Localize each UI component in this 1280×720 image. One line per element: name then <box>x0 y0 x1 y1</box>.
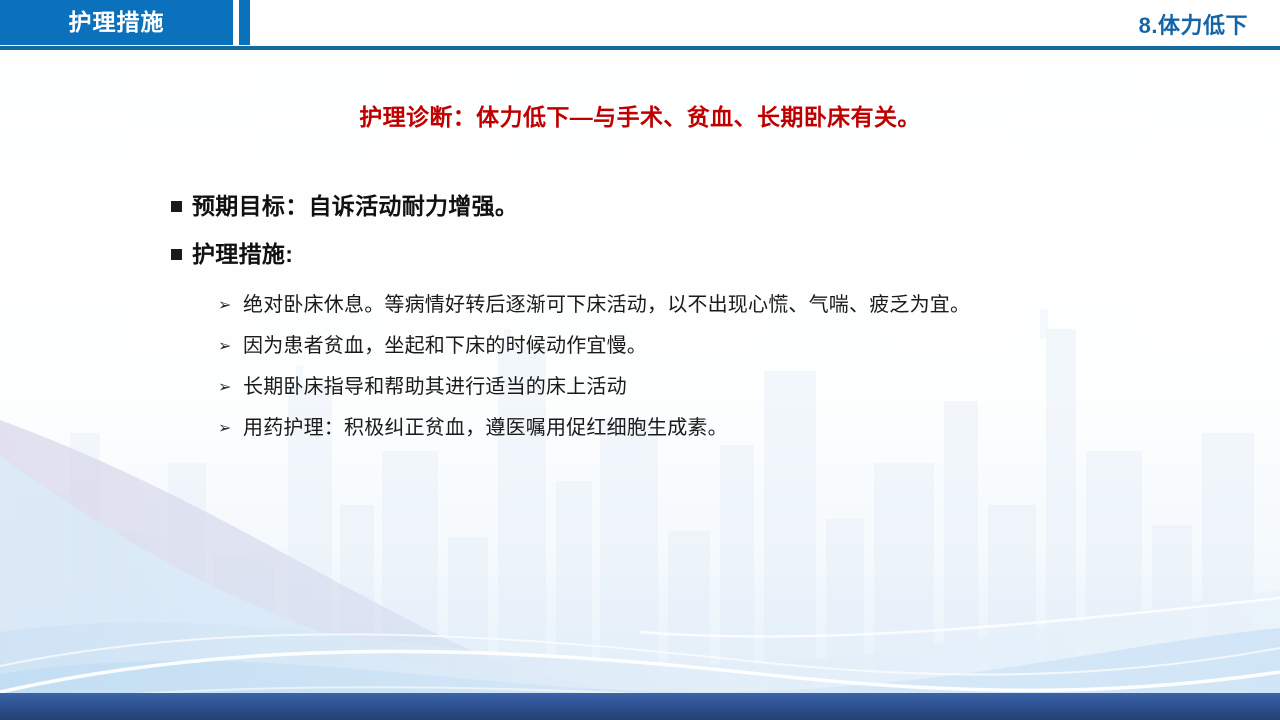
slide-footer-bar <box>0 693 1280 720</box>
slide-content: 护理诊断：体力低下—与手术、贫血、长期卧床有关。 预期目标：自诉活动耐力增强。 … <box>0 52 1280 720</box>
sub-bullet-list: ➢ 绝对卧床休息。等病情好转后逐渐可下床活动，以不出现心慌、气喘、疲乏为宜。 ➢… <box>0 285 1280 449</box>
sub-bullet-label: 用药护理：积极纠正贫血，遵医嘱用促红细胞生成素。 <box>243 417 728 439</box>
bullet-item-expected-goal: 预期目标：自诉活动耐力增强。 <box>0 182 1280 230</box>
sub-bullet-item: ➢ 因为患者贫血，坐起和下床的时候动作宜慢。 <box>0 326 1280 367</box>
arrow-bullet-icon: ➢ <box>218 408 236 449</box>
nursing-diagnosis-title: 护理诊断：体力低下—与手术、贫血、长期卧床有关。 <box>0 98 1280 132</box>
square-bullet-icon <box>171 201 182 212</box>
sub-bullet-label: 绝对卧床休息。等病情好转后逐渐可下床活动，以不出现心慌、气喘、疲乏为宜。 <box>243 294 970 316</box>
sub-bullet-label: 因为患者贫血，坐起和下床的时候动作宜慢。 <box>243 335 647 357</box>
sub-bullet-item: ➢ 用药护理：积极纠正贫血，遵医嘱用促红细胞生成素。 <box>0 408 1280 449</box>
bullet-list: 预期目标：自诉活动耐力增强。 护理措施: ➢ 绝对卧床休息。等病情好转后逐渐可下… <box>0 182 1280 449</box>
arrow-bullet-icon: ➢ <box>218 367 236 408</box>
bullet-item-nursing-measures: 护理措施: <box>0 230 1280 278</box>
header-section-label: 8.体力低下 <box>1139 8 1248 40</box>
header-tab-label: 护理措施 <box>0 0 233 45</box>
square-bullet-icon <box>171 249 182 260</box>
sub-bullet-item: ➢ 长期卧床指导和帮助其进行适当的床上活动 <box>0 367 1280 408</box>
header-divider-line <box>0 46 1280 50</box>
sub-bullet-item: ➢ 绝对卧床休息。等病情好转后逐渐可下床活动，以不出现心慌、气喘、疲乏为宜。 <box>0 285 1280 326</box>
sub-bullet-label: 长期卧床指导和帮助其进行适当的床上活动 <box>243 376 627 398</box>
arrow-bullet-icon: ➢ <box>218 285 236 326</box>
header-accent-bar <box>239 0 250 45</box>
presentation-slide: 护理措施 8.体力低下 护理诊断：体力低下—与手术、贫血、长期卧床有关。 预期目… <box>0 0 1280 720</box>
bullet-item-label: 护理措施: <box>192 241 293 267</box>
bullet-item-label: 预期目标：自诉活动耐力增强。 <box>192 193 518 219</box>
slide-header: 护理措施 8.体力低下 <box>0 0 1280 52</box>
arrow-bullet-icon: ➢ <box>218 326 236 367</box>
